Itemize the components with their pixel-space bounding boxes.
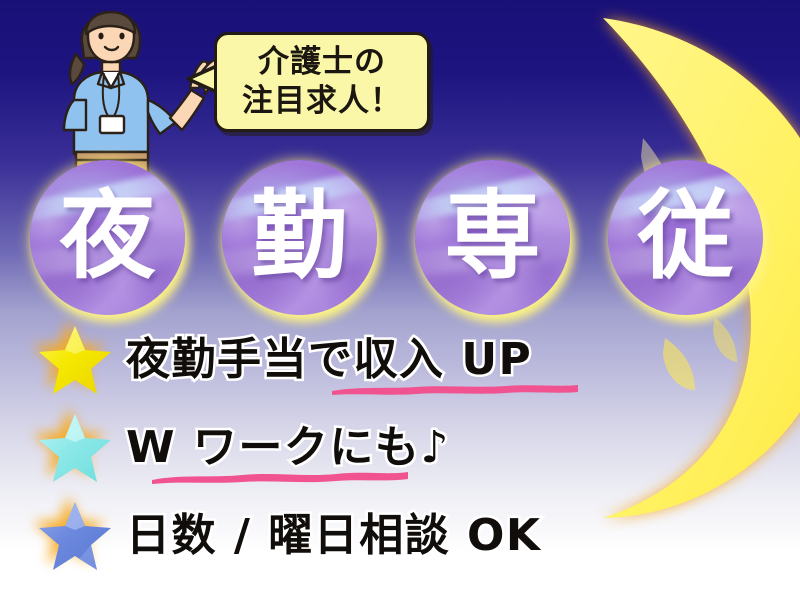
feature-item-1: 夜勤手当で収入 UP — [0, 316, 800, 404]
kanji-glyph-2: 勤 — [222, 160, 377, 315]
kanji-circle-3: 専 — [415, 160, 570, 315]
kanji-circle-1: 夜 — [30, 160, 185, 315]
kanji-circle-4: 従 — [608, 160, 763, 315]
feature-label-1: 夜勤手当で収入 UP — [126, 338, 532, 382]
yellow-star-icon — [38, 323, 112, 397]
kanji-glyph-1: 夜 — [30, 160, 185, 315]
feature-label-3: 日数 / 曜日相談 OK — [126, 514, 542, 558]
speech-bubble-line-2: 注目求人！ — [242, 83, 402, 121]
blue-star-icon — [38, 499, 112, 573]
feature-label-2: W ワークにも♪ — [126, 426, 450, 470]
night-shift-job-banner: 介護士の 注目求人！ 夜 勤 専 従 — [0, 0, 800, 600]
kanji-circle-2: 勤 — [222, 160, 377, 315]
feature-item-2: W ワークにも♪ — [0, 404, 800, 492]
speech-bubble: 介護士の 注目求人！ — [214, 32, 430, 132]
kanji-glyph-4: 従 — [608, 160, 763, 315]
kanji-circle-row: 夜 勤 専 従 — [0, 158, 800, 318]
speech-bubble-text: 介護士の 注目求人！ — [214, 32, 430, 132]
feature-item-3: 日数 / 曜日相談 OK — [0, 492, 800, 580]
cyan-star-icon — [38, 411, 112, 485]
kanji-glyph-3: 専 — [415, 160, 570, 315]
feature-list: 夜勤手当で収入 UP — [0, 316, 800, 580]
speech-bubble-line-1: 介護士の — [258, 44, 386, 82]
